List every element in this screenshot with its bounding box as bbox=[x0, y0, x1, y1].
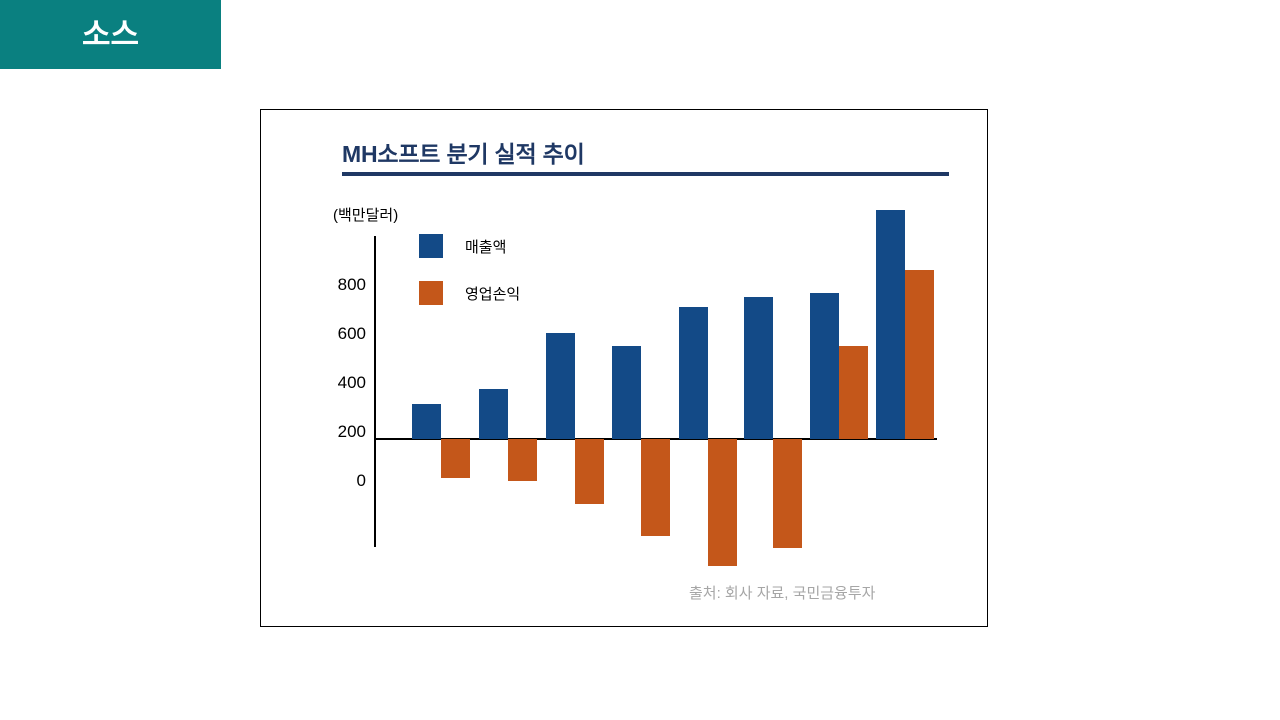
header-banner-title: 소스 bbox=[82, 19, 139, 50]
bar-revenue bbox=[546, 333, 575, 439]
bar-revenue bbox=[744, 297, 773, 439]
bar-operating-profit bbox=[839, 346, 868, 439]
bar-revenue bbox=[810, 293, 839, 439]
bar-revenue bbox=[612, 346, 641, 439]
bar-operating-profit bbox=[905, 270, 934, 439]
source-note: 출처: 회사 자료, 국민금융투자 bbox=[689, 582, 875, 603]
bar-operating-profit bbox=[708, 439, 737, 566]
header-banner: 소스 bbox=[0, 0, 221, 69]
bar-operating-profit bbox=[773, 439, 802, 548]
bars-layer bbox=[261, 110, 989, 628]
bar-revenue bbox=[876, 210, 905, 439]
chart-panel: MH소프트 분기 실적 추이 (백만달러) 8006004002000 매출액영… bbox=[260, 109, 988, 627]
bar-operating-profit bbox=[575, 439, 604, 504]
bar-revenue bbox=[479, 389, 508, 439]
bar-operating-profit bbox=[641, 439, 670, 536]
bar-revenue bbox=[679, 307, 708, 439]
bar-revenue bbox=[412, 404, 441, 439]
bar-operating-profit bbox=[508, 439, 537, 481]
plot-area: 8006004002000 매출액영업손익 bbox=[261, 110, 989, 628]
bar-operating-profit bbox=[441, 439, 470, 478]
